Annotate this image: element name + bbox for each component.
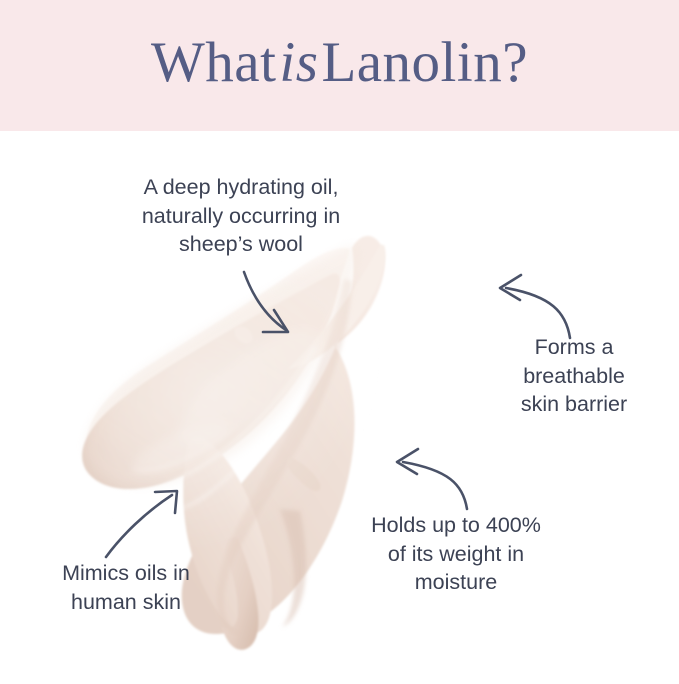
page-title: What is Lanolin?	[0, 0, 679, 131]
infographic-canvas: What is Lanolin?	[0, 0, 679, 679]
page-title-part2: Lanolin?	[321, 34, 528, 91]
callout-hydrating-oil: A deep hydrating oil, naturally occurrin…	[96, 173, 386, 259]
callout-skin-barrier: Forms a breathable skin barrier	[476, 333, 672, 419]
callout-mimics-oils: Mimics oils in human skin	[22, 559, 230, 616]
page-title-emphasis: is	[276, 34, 321, 91]
page-title-part1: What	[151, 34, 276, 91]
callout-holds-moisture: Holds up to 400% of its weight in moistu…	[327, 511, 585, 597]
